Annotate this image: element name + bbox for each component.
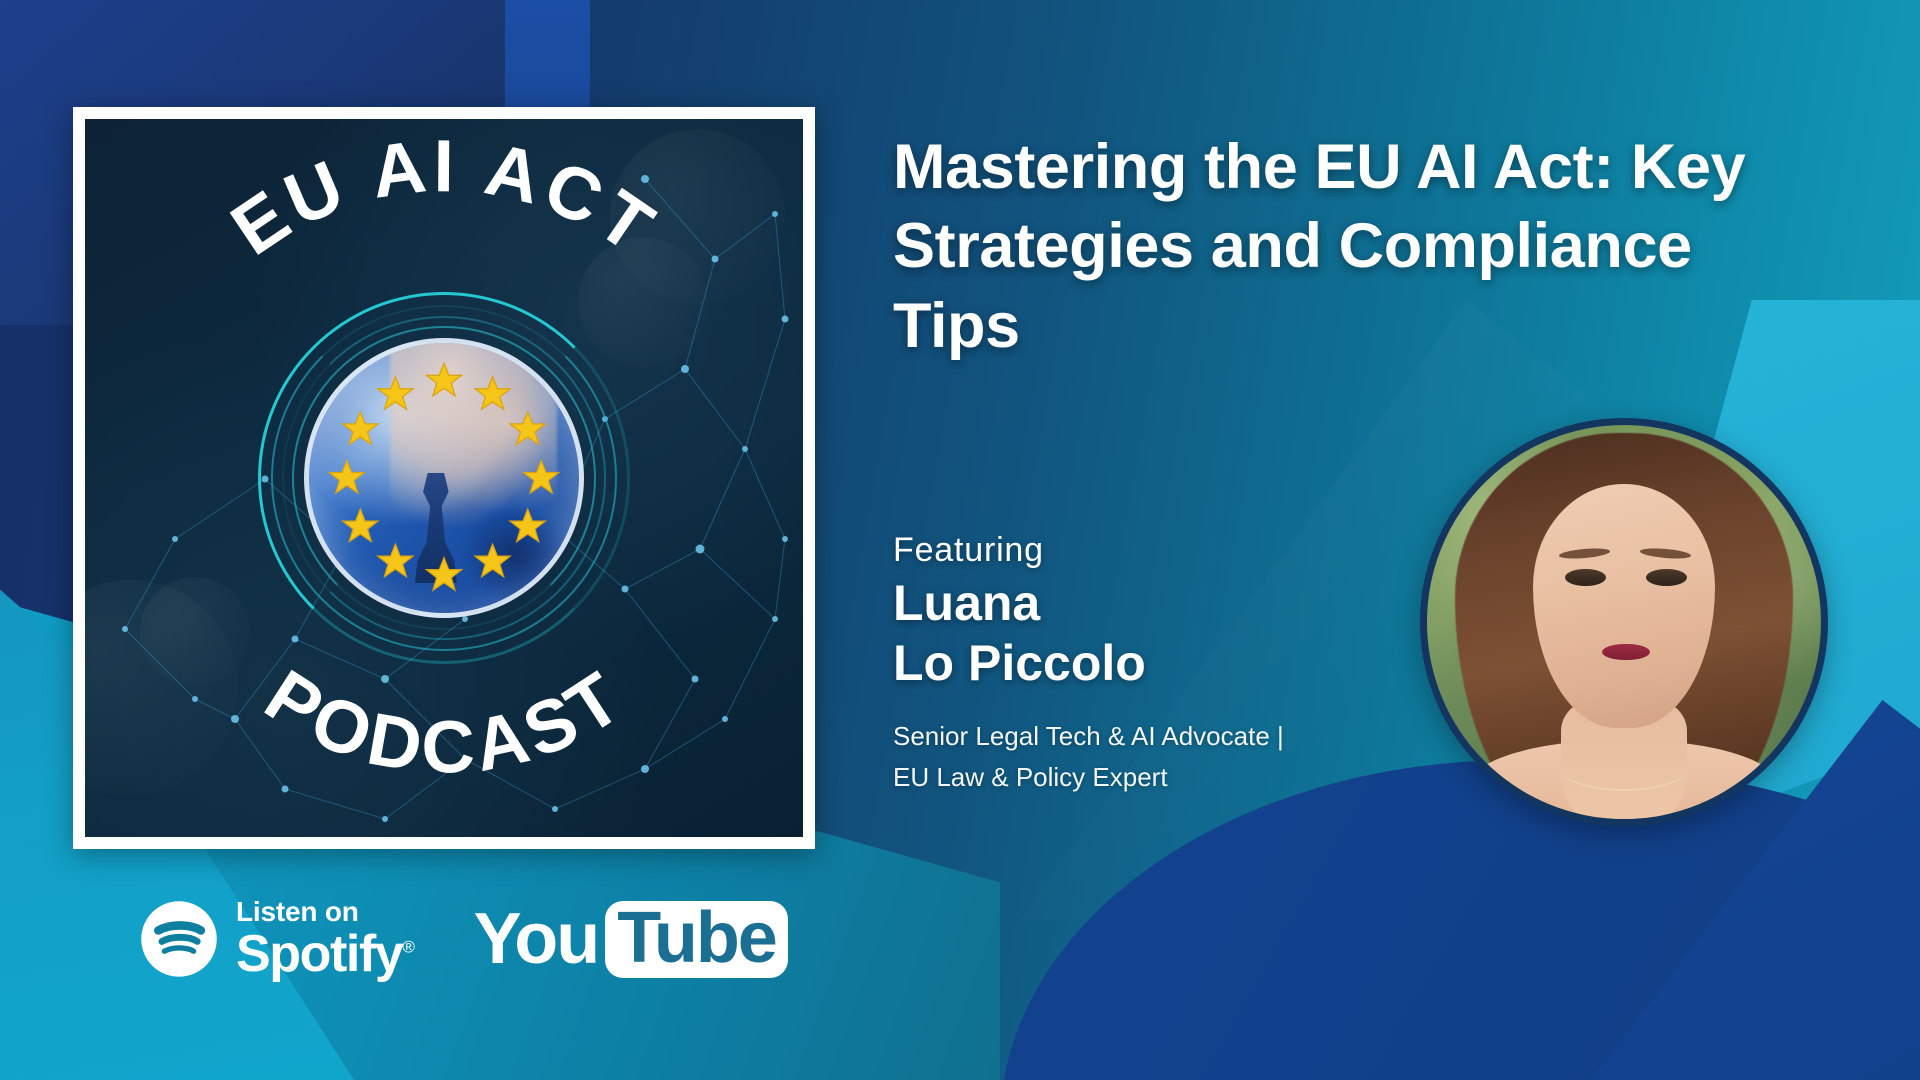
spotify-icon <box>140 900 218 978</box>
guest-title-line-1: Senior Legal Tech & AI Advocate | <box>893 716 1453 757</box>
guest-title-line-2: EU Law & Policy Expert <box>893 757 1453 798</box>
spotify-brand-label: Spotify® <box>236 928 414 980</box>
guest-title: Senior Legal Tech & AI Advocate | EU Law… <box>893 716 1453 798</box>
spotify-listen-label: Listen on <box>236 898 414 926</box>
eu-emblem <box>258 292 630 664</box>
eu-stars <box>309 343 579 613</box>
platform-badges: Listen on Spotify® You Tube <box>140 898 788 980</box>
avatar-lips <box>1602 644 1649 661</box>
avatar-eye-left <box>1565 569 1606 586</box>
avatar-eye-right <box>1646 569 1687 586</box>
spotify-brand-text: Spotify <box>236 925 402 983</box>
youtube-you-text: You <box>474 903 599 975</box>
guest-name-line-2: Lo Piccolo <box>893 635 1453 692</box>
youtube-tube-text: Tube <box>617 898 776 978</box>
guest-avatar <box>1420 418 1828 826</box>
spotify-label-group: Listen on Spotify® <box>236 898 414 980</box>
featuring-label: Featuring <box>893 530 1453 571</box>
episode-title: Mastering the EU AI Act: Key Strategies … <box>893 128 1833 366</box>
youtube-tube-box: Tube <box>605 901 788 978</box>
featuring-block: Featuring Luana Lo Piccolo Senior Legal … <box>893 530 1453 798</box>
youtube-badge[interactable]: You Tube <box>474 901 788 978</box>
eu-flag-disc <box>304 338 584 618</box>
spotify-badge[interactable]: Listen on Spotify® <box>140 898 414 980</box>
podcast-cover-art: EU AI ACT PODCAST <box>73 107 815 849</box>
arc-top-text: EU AI ACT <box>217 124 672 271</box>
arc-bottom-text: PODCAST <box>251 654 638 789</box>
cover-art-canvas: EU AI ACT PODCAST <box>85 119 803 837</box>
spotify-registered-mark: ® <box>402 938 413 957</box>
guest-name-line-1: Luana <box>893 575 1453 632</box>
